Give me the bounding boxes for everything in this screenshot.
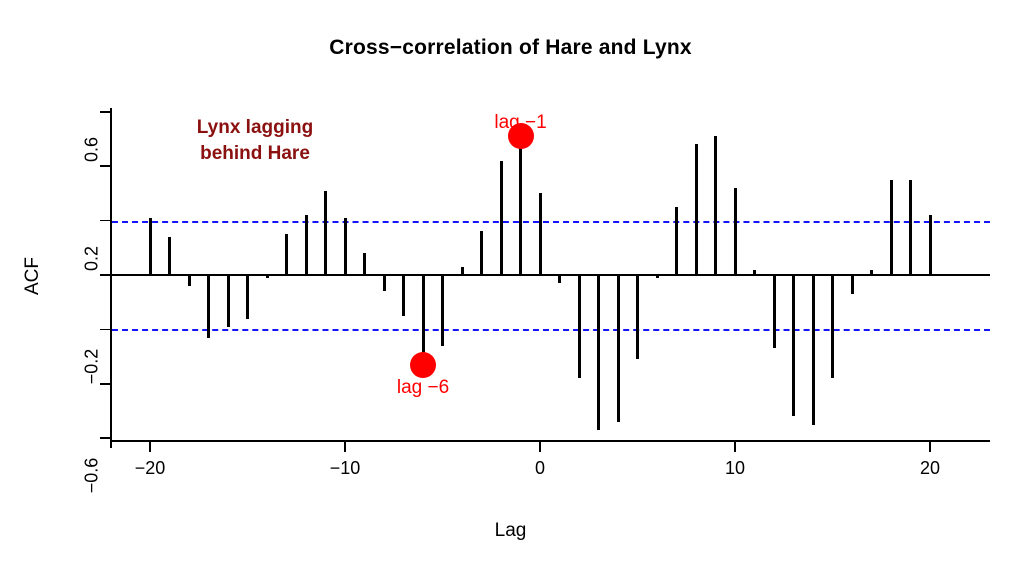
acf-bar [773, 275, 776, 348]
x-tick [929, 441, 931, 452]
acf-bar [285, 234, 288, 275]
annotation-note-line2: behind Hare [150, 141, 360, 167]
acf-bar [870, 270, 873, 275]
x-tick [344, 441, 346, 452]
y-tick-label: −0.2 [82, 329, 103, 405]
marker-label-lag-minus-1: lag −1 [494, 112, 546, 134]
x-tick-label: −20 [135, 458, 166, 479]
acf-bar [929, 215, 932, 275]
acf-bar [636, 275, 639, 359]
annotation-note-line1: Lynx lagging [150, 115, 360, 141]
acf-bar [480, 231, 483, 275]
acf-bar [558, 275, 561, 283]
y-axis-label: ACF [22, 231, 44, 321]
y-tick-minor [100, 165, 111, 167]
acf-bar [851, 275, 854, 294]
acf-bar [831, 275, 834, 378]
acf-bar [188, 275, 191, 286]
x-axis-line [112, 440, 990, 442]
x-tick [149, 441, 151, 452]
zero-reference-line [112, 274, 990, 276]
acf-bar [168, 237, 171, 275]
marker-label-lag-minus-6: lag −6 [397, 377, 449, 399]
acf-bar [207, 275, 210, 338]
x-tick [539, 441, 541, 452]
acf-bar [695, 144, 698, 275]
x-tick-label: −10 [330, 458, 361, 479]
acf-bar [812, 275, 815, 425]
acf-bar [305, 215, 308, 275]
acf-bar [344, 218, 347, 275]
acf-bar [519, 136, 522, 275]
acf-bar [402, 275, 405, 316]
acf-bar [461, 267, 464, 275]
acf-bar [246, 275, 249, 319]
y-tick-label: 0.6 [82, 111, 103, 187]
y-axis-line [110, 108, 112, 448]
acf-bar [909, 180, 912, 275]
x-axis-label: Lag [0, 520, 1021, 542]
acf-bar [714, 136, 717, 275]
acf-bar [675, 207, 678, 275]
acf-bar [227, 275, 230, 327]
marker-dot-lag-minus-6 [410, 352, 436, 378]
acf-bar [597, 275, 600, 430]
acf-bar [441, 275, 444, 346]
acf-bar [539, 193, 542, 275]
cross-correlation-plot: Cross−correlation of Hare and Lynx ACF L… [0, 0, 1021, 583]
confidence-band-upper [112, 221, 990, 223]
acf-bar [578, 275, 581, 378]
acf-bar [734, 188, 737, 275]
acf-bar [324, 191, 327, 275]
acf-bar [500, 161, 503, 275]
acf-bar [656, 275, 659, 278]
y-tick-minor [100, 383, 111, 385]
acf-bar [792, 275, 795, 416]
acf-bar [753, 270, 756, 275]
x-tick-label: 20 [920, 458, 940, 479]
acf-bar [617, 275, 620, 422]
acf-bar [363, 253, 366, 275]
acf-bar [266, 275, 269, 278]
acf-bar [383, 275, 386, 291]
x-tick-label: 10 [725, 458, 745, 479]
acf-bar [149, 218, 152, 275]
y-tick-label: 0.2 [82, 220, 103, 296]
page-title: Cross−correlation of Hare and Lynx [0, 36, 1021, 60]
x-tick-label: 0 [535, 458, 545, 479]
y-tick-minor [100, 274, 111, 276]
x-tick [734, 441, 736, 452]
acf-bar [890, 180, 893, 275]
annotation-note: Lynx lagging behind Hare [150, 115, 360, 166]
confidence-band-lower [112, 329, 990, 331]
y-tick-label: −0.6 [82, 438, 103, 514]
